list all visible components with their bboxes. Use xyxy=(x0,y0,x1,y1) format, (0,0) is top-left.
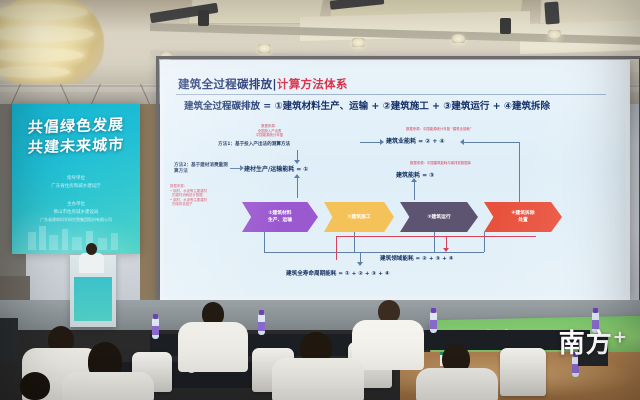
ceiling-light xyxy=(352,38,365,47)
water-bottle xyxy=(152,318,159,339)
ceiling-vent xyxy=(544,2,560,25)
poster-title-line1: 共倡绿色发展 xyxy=(17,116,135,137)
ceiling-light xyxy=(548,30,561,39)
conference-photo: 共倡绿色发展 共建未来城市 指导单位 广东省住房和城乡建设厅 主办单位 佛山市住… xyxy=(0,0,640,400)
poster-org-label-2: 主办单位 xyxy=(20,202,132,208)
watermark-plus: + xyxy=(613,327,628,347)
water-bottle xyxy=(430,312,437,333)
speaker-body xyxy=(79,253,104,273)
poster-org-label-1: 指导单位 xyxy=(20,176,132,182)
speaker-head xyxy=(86,243,97,255)
chandelier xyxy=(0,0,104,90)
equipment xyxy=(0,318,18,362)
screen-frame xyxy=(156,56,640,312)
poster-org-2: 佛山市住房城乡建设局 xyxy=(20,210,132,216)
spotlight-housing xyxy=(198,10,209,26)
podium-panel xyxy=(74,277,112,321)
poster-title-line2: 共建未来城市 xyxy=(17,136,135,157)
watermark-text: 南方 xyxy=(559,329,613,359)
watermark-logo: 南方+ xyxy=(559,323,628,360)
ceiling-light xyxy=(452,34,465,43)
water-bottle xyxy=(258,314,265,335)
ceiling-light xyxy=(258,44,271,53)
poster-org-1: 广东省住房和城乡建设厅 xyxy=(20,184,132,190)
spotlight-housing xyxy=(500,18,511,34)
skyline-graphic xyxy=(22,220,130,250)
event-poster: 共倡绿色发展 共建未来城市 指导单位 广东省住房和城乡建设厅 主办单位 佛山市住… xyxy=(12,104,140,254)
chair xyxy=(500,348,546,396)
